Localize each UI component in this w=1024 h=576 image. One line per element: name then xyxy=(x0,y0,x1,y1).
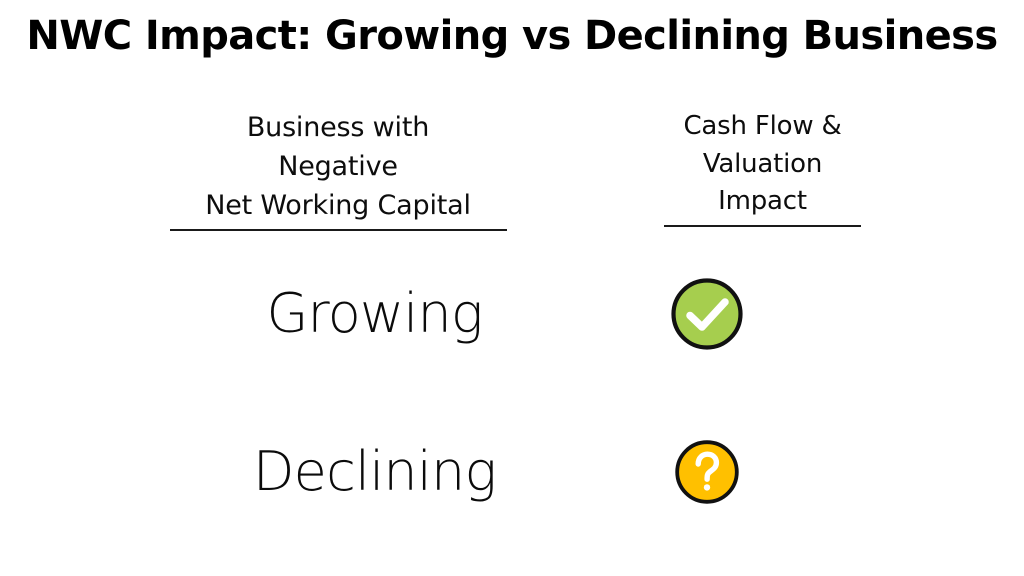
comparison-table: Business with Negative Net Working Capit… xyxy=(0,108,1024,548)
column-header-impact: Cash Flow & Valuation Impact xyxy=(625,108,900,221)
column-header-line-1: Business with xyxy=(143,108,533,147)
table-row: Declining xyxy=(0,426,1024,518)
column-header-line-3: Impact xyxy=(625,183,900,221)
column-header-line-3: Net Working Capital xyxy=(143,186,533,225)
question-circle-icon xyxy=(674,439,740,505)
column-header-line-2: Valuation xyxy=(625,146,900,184)
slide-canvas: NWC Impact: Growing vs Declining Busines… xyxy=(0,0,1024,576)
check-circle-icon xyxy=(670,277,744,351)
table-row: Growing xyxy=(0,268,1024,360)
column-impact: Cash Flow & Valuation Impact xyxy=(625,108,900,227)
column-header-divider-left xyxy=(170,229,507,231)
row-label-growing: Growing xyxy=(266,287,482,341)
column-header-divider-right xyxy=(664,225,861,227)
column-header-business-type: Business with Negative Net Working Capit… xyxy=(143,108,533,225)
column-header-line-2: Negative xyxy=(143,147,533,186)
row-label-declining: Declining xyxy=(253,445,496,499)
column-header-line-1: Cash Flow & xyxy=(625,108,900,146)
column-business-type: Business with Negative Net Working Capit… xyxy=(143,108,533,231)
page-title: NWC Impact: Growing vs Declining Busines… xyxy=(0,13,1024,59)
